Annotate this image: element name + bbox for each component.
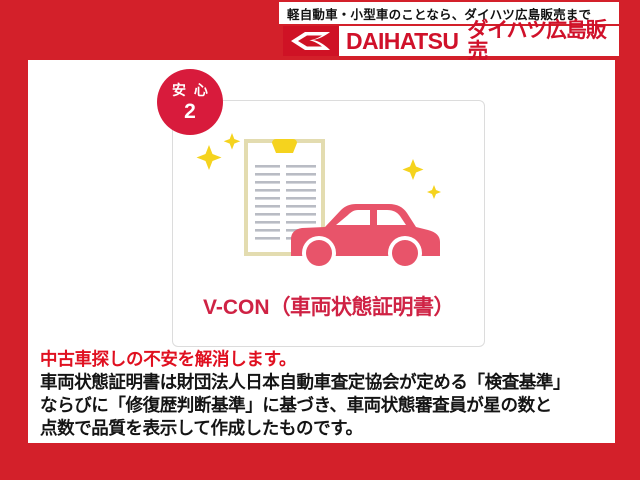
brand-logo: DAIHATSU ダイハツ広島販売 bbox=[283, 26, 619, 56]
description-line: ならびに「修復歴判断基準」に基づき、車両状態審査員が星の数と bbox=[40, 394, 615, 417]
vcon-caption-jp: （車両状態証明書） bbox=[270, 296, 455, 319]
anshin-badge-label: 安 心 bbox=[170, 83, 210, 97]
sparkle-icon bbox=[197, 133, 241, 170]
sparkle-icon bbox=[403, 159, 442, 199]
content-panel: V-CON（車両状態証明書） 安 心 2 中古車探しの不安を解消します。 車両状… bbox=[28, 60, 615, 443]
anshin-badge-number: 2 bbox=[184, 101, 196, 122]
vcon-card: V-CON（車両状態証明書） bbox=[172, 100, 485, 347]
description-line: 車両状態証明書は財団法人日本自動車査定協会が定める「検査基準」 bbox=[40, 371, 615, 394]
anshin-badge: 安 心 2 bbox=[157, 69, 223, 135]
logo-wordmark-jp: ダイハツ広島販売 bbox=[467, 20, 619, 62]
vcon-caption: V-CON（車両状態証明書） bbox=[173, 291, 484, 321]
description-line: 点数で品質を表示して作成したものです。 bbox=[40, 417, 615, 440]
vcon-illustration bbox=[173, 123, 484, 273]
logo-wordmark: DAIHATSU bbox=[346, 30, 458, 53]
daihatsu-d-emblem-icon bbox=[283, 26, 339, 56]
description-block: 中古車探しの不安を解消します。 車両状態証明書は財団法人日本自動車査定協会が定め… bbox=[40, 348, 615, 440]
description-headline: 中古車探しの不安を解消します。 bbox=[40, 348, 615, 371]
header-band: 軽自動車・小型車のことなら、ダイハツ広島販売まで DAIHATSU ダイハツ広島… bbox=[0, 0, 640, 60]
vcon-caption-en: V-CON bbox=[203, 296, 270, 319]
